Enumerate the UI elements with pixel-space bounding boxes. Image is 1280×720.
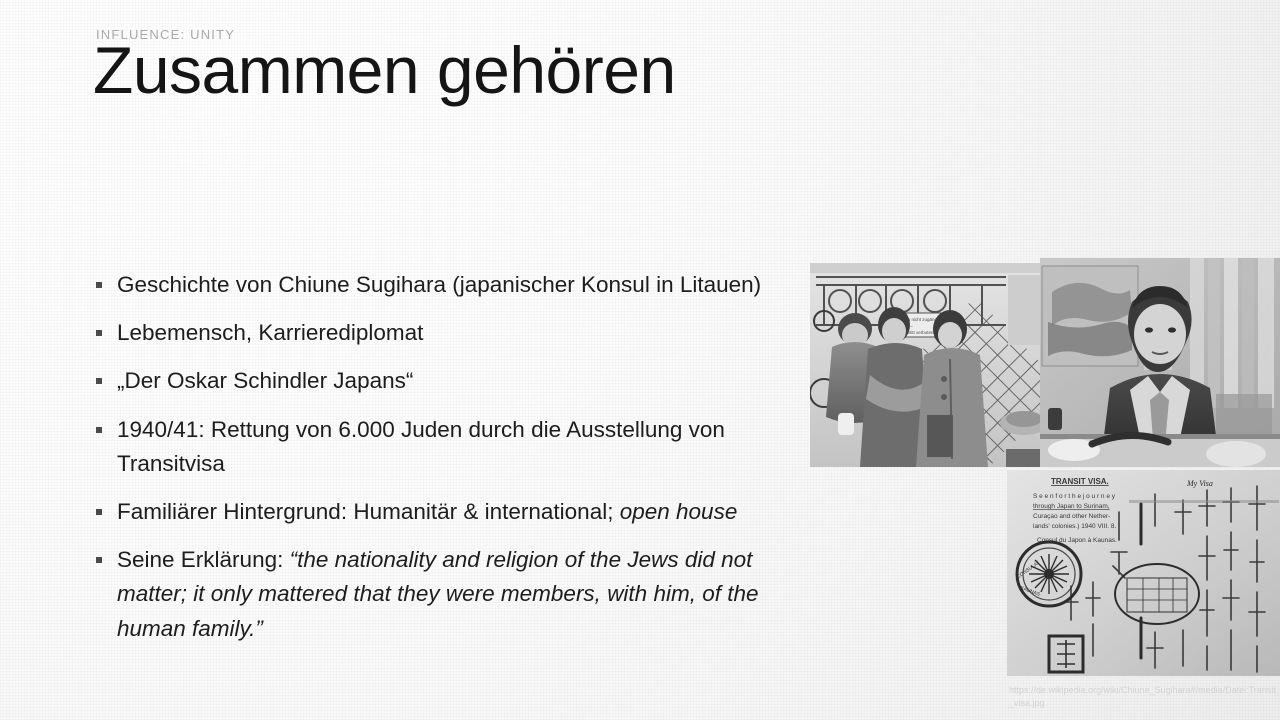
bullet-text: Familiärer Hintergrund: Humanitär & inte… xyxy=(117,495,737,529)
bullet-text-lead: Seine Erklärung: xyxy=(117,547,290,572)
bullet-marker-icon xyxy=(96,330,102,336)
page-title: Zusammen gehören xyxy=(93,36,676,105)
svg-text:Curaçao and other Nether-: Curaçao and other Nether- xyxy=(1033,513,1110,520)
list-item: Familiärer Hintergrund: Humanitär & inte… xyxy=(96,495,796,529)
svg-text:TRANSIT VISA.: TRANSIT VISA. xyxy=(1051,477,1109,486)
svg-text:lands' colonies.) 1940 VIII. 8: lands' colonies.) 1940 VIII. 8. xyxy=(1033,523,1116,530)
bullet-text: Lebemensch, Karrierediplomat xyxy=(117,316,423,350)
bullet-text: Geschichte von Chiune Sugihara (japanisc… xyxy=(117,268,761,302)
bullet-list: Geschichte von Chiune Sugihara (japanisc… xyxy=(96,268,796,660)
svg-text:S e e n f o r t h e j o: S e e n f o r t h e j o u r n e y xyxy=(1033,493,1116,500)
list-item: Lebemensch, Karrierediplomat xyxy=(96,316,796,350)
image-source-caption: https://de.wikipedia.org/wiki/Chiune_Sug… xyxy=(1009,684,1277,710)
photo-family-at-gate: Juden nicht zugänglich – Eintritt verbot… xyxy=(810,263,1040,467)
svg-text:My Visa: My Visa xyxy=(1186,479,1213,488)
svg-text:through Japan to Surinam,: through Japan to Surinam, xyxy=(1033,503,1110,510)
bullet-marker-icon xyxy=(96,557,102,563)
bullet-text-lead: Familiärer Hintergrund: Humanitär & inte… xyxy=(117,499,620,524)
list-item: „Der Oskar Schindler Japans“ xyxy=(96,364,796,398)
bullet-marker-icon xyxy=(96,427,102,433)
bullet-text: Seine Erklärung: “the nationality and re… xyxy=(117,543,796,646)
bullet-text-italic: open house xyxy=(620,499,738,524)
list-item: 1940/41: Rettung von 6.000 Juden durch d… xyxy=(96,413,796,481)
photo-sugihara-portrait xyxy=(1040,258,1280,467)
list-item: Geschichte von Chiune Sugihara (japanisc… xyxy=(96,268,796,302)
list-item: Seine Erklärung: “the nationality and re… xyxy=(96,543,796,646)
bullet-text: 1940/41: Rettung von 6.000 Juden durch d… xyxy=(117,413,796,481)
slide-canvas: INFLUENCE: UNITY Zusammen gehören Geschi… xyxy=(0,0,1280,720)
photo-transit-visa: TRANSIT VISA. S e e n f o r t h e j o u … xyxy=(1007,470,1280,676)
bullet-marker-icon xyxy=(96,509,102,515)
bullet-text: „Der Oskar Schindler Japans“ xyxy=(117,364,413,398)
bullet-marker-icon xyxy=(96,378,102,384)
bullet-marker-icon xyxy=(96,282,102,288)
